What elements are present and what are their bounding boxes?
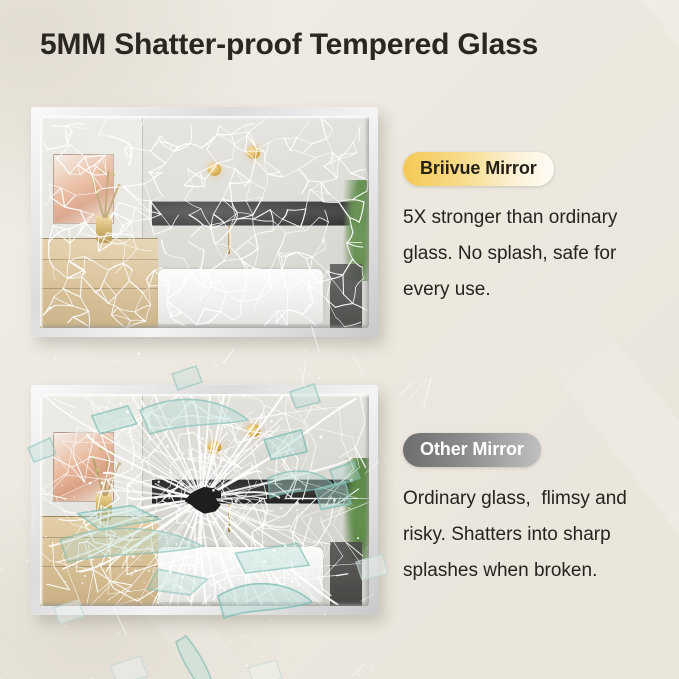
scene-bathtub [158,547,323,602]
badge-other-mirror: Other Mirror [403,433,541,467]
mirror-image-briivue [31,107,378,337]
page-title: 5MM Shatter-proof Tempered Glass [40,28,538,62]
scene-gold-sconce [208,441,221,454]
scene-wood-vanity [40,516,158,606]
badge-briivue-mirror: Briivue Mirror [403,152,554,186]
product-infographic: 5MM Shatter-proof Tempered Glass [0,0,679,679]
scene-vase [96,494,112,522]
description-other: Ordinary glass, flimsy and risky. Shatte… [403,481,665,589]
scene-faucet [228,504,230,532]
reflected-bathroom-scene [40,394,369,606]
glass-haze [40,116,369,328]
description-briivue: 5X stronger than ordinary glass. No spla… [403,200,665,308]
callout-briivue: Briivue Mirror 5X stronger than ordinary… [403,152,665,308]
scene-gold-sconce [247,424,260,437]
mirror-image-other [31,385,378,615]
mirror-glass-other [40,394,369,606]
scene-dark-backsplash [152,479,369,504]
scene-dark-column [330,542,363,606]
mirror-glass-briivue [40,116,369,328]
callout-other: Other Mirror Ordinary glass, flimsy and … [403,433,665,589]
